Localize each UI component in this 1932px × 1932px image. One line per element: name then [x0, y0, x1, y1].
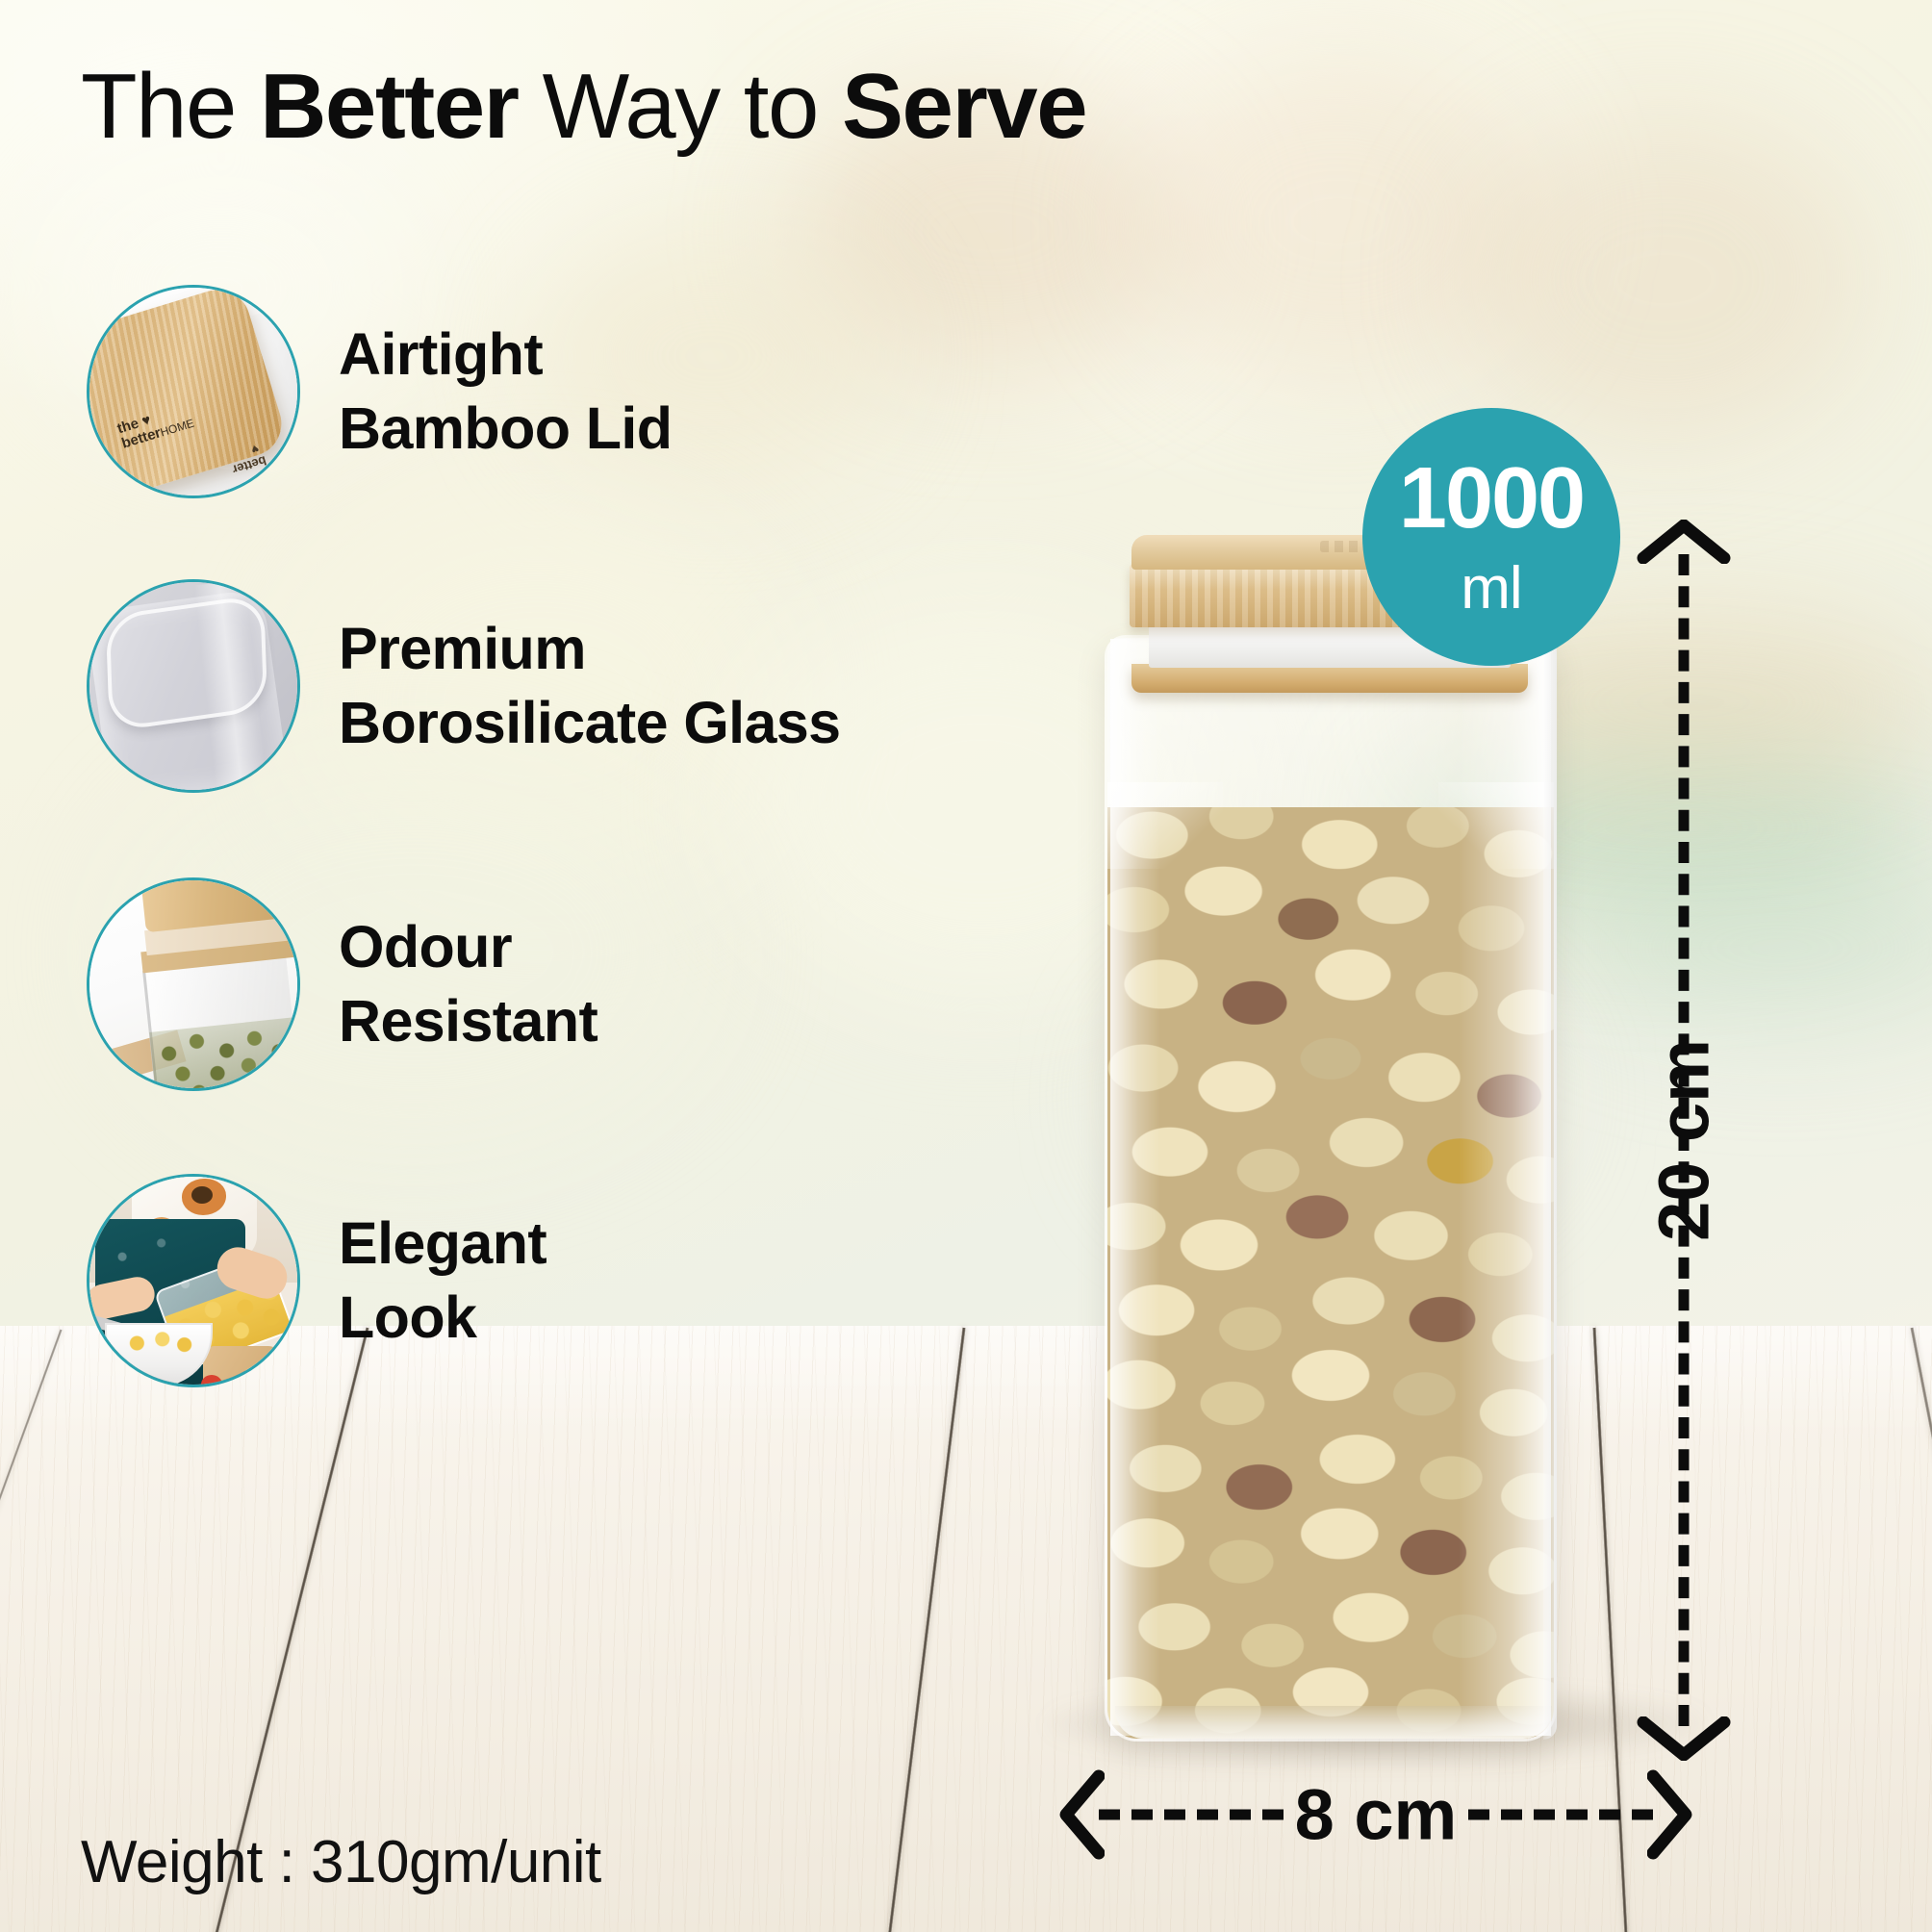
volume-badge: 1000 ml: [1362, 408, 1620, 666]
width-dimension-label: 8 cm: [1295, 1774, 1458, 1856]
product-jar: [1105, 535, 1557, 1747]
title-part-serve: Serve: [842, 55, 1086, 158]
nut-surface-shade: [1107, 782, 1223, 869]
feature-item-odour-resistant: Odour Resistant: [87, 877, 597, 1091]
feature-item-elegant-look: Elegant Look: [87, 1174, 547, 1387]
bamboo-lid-photo-icon: the ♥betterHOME better ♥: [87, 285, 300, 498]
dimension-dashed-line: [1468, 1810, 1653, 1820]
infographic-canvas: The Better Way to Serve the ♥betterHOME …: [0, 0, 1932, 1932]
feature-label: Odour Resistant: [339, 910, 597, 1059]
feature-label: Premium Borosilicate Glass: [339, 612, 841, 761]
feature-item-premium-borosilicate-glass: Premium Borosilicate Glass: [87, 579, 841, 793]
page-title: The Better Way to Serve: [81, 52, 1086, 161]
borosilicate-glass-photo-icon: [87, 579, 300, 793]
bamboo-lid-flange: [1131, 664, 1528, 693]
title-part-way-to: Way to: [519, 55, 843, 158]
background-bokeh-blob: [1462, 115, 1867, 443]
arrow-right-icon: [1647, 1768, 1693, 1861]
weight-note: Weight : 310gm/unit: [81, 1828, 601, 1896]
height-dimension-label: 20 cm: [1643, 1026, 1725, 1255]
elegant-look-photo-icon: [87, 1174, 300, 1387]
odour-resistant-photo-icon: [87, 877, 300, 1091]
borosilicate-glass-body: [1105, 635, 1557, 1741]
width-dimension-indicator: 8 cm: [1058, 1768, 1693, 1861]
title-part-the: The: [81, 55, 260, 158]
volume-value: 1000: [1399, 455, 1584, 542]
volume-unit: ml: [1461, 559, 1521, 619]
arrow-left-icon: [1058, 1768, 1105, 1861]
title-part-better: Better: [260, 55, 518, 158]
dimension-dashed-line: [1099, 1810, 1284, 1820]
feature-label: Elegant Look: [339, 1207, 547, 1356]
arrow-up-icon: [1636, 520, 1732, 564]
arrow-down-icon: [1636, 1716, 1732, 1761]
feature-item-airtight-bamboo-lid: the ♥betterHOME better ♥ Airtight Bamboo…: [87, 285, 672, 498]
feature-label: Airtight Bamboo Lid: [339, 318, 672, 467]
height-dimension-indicator: 20 cm: [1636, 520, 1732, 1761]
nut-surface-shade: [1438, 782, 1554, 869]
pistachio-contents: [1107, 807, 1554, 1739]
